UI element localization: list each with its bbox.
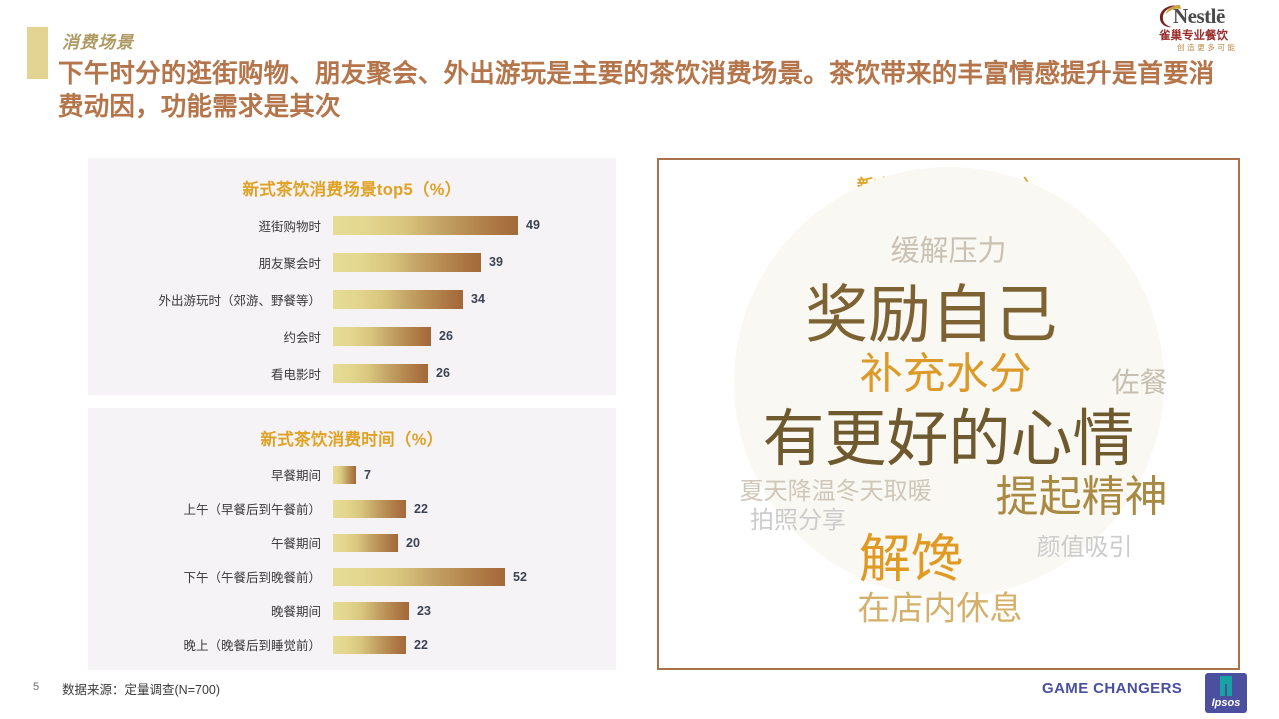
ipsos-mark-icon bbox=[1218, 676, 1234, 696]
bar-category-label: 约会时 bbox=[88, 327, 333, 346]
section-eyebrow-label: 消费场景 bbox=[62, 28, 134, 53]
bar-track: 23 bbox=[333, 602, 616, 620]
bar-fill bbox=[333, 466, 356, 484]
chart-panel-consumption-times: 新式茶饮消费时间（%） 早餐期间7上午（早餐后到午餐前）22午餐期间20下午（午… bbox=[88, 408, 616, 670]
wordcloud-panel-consumption-reasons: 新式茶饮消费原因（%） 缓解压力奖励自己补充水分佐餐有更好的心情夏天降温冬天取暖… bbox=[657, 158, 1240, 670]
bar-value-label: 34 bbox=[471, 292, 485, 306]
bar-row: 晚上（晚餐后到睡觉前）22 bbox=[88, 634, 616, 655]
footer-data-source: 数据来源：定量调查(N=700) bbox=[62, 679, 220, 698]
ipsos-logo: Ipsos bbox=[1205, 673, 1247, 713]
bar-value-label: 26 bbox=[436, 366, 450, 380]
bar-row: 上午（早餐后到午餐前）22 bbox=[88, 498, 616, 519]
nestle-chinese-name: 雀巢专业餐饮 bbox=[1159, 27, 1228, 43]
bar-track: 49 bbox=[333, 216, 616, 235]
nestle-professional-logo: Nestlē 雀巢专业餐饮 创造更多可能 bbox=[1155, 4, 1267, 54]
bar-value-label: 22 bbox=[414, 638, 428, 652]
bar-row: 早餐期间7 bbox=[88, 464, 616, 485]
footer-page-number: 5 bbox=[33, 681, 39, 693]
ipsos-wordmark: Ipsos bbox=[1205, 697, 1247, 709]
bar-value-label: 26 bbox=[439, 329, 453, 343]
chart-title-consumption-times: 新式茶饮消费时间（%） bbox=[88, 408, 616, 450]
bar-fill bbox=[333, 216, 518, 235]
bar-value-label: 7 bbox=[364, 468, 371, 482]
wordcloud-word: 奖励自己 bbox=[805, 285, 1057, 348]
bar-track: 34 bbox=[333, 290, 616, 309]
bar-value-label: 39 bbox=[489, 255, 503, 269]
bar-row: 晚餐期间23 bbox=[88, 600, 616, 621]
bar-category-label: 上午（早餐后到午餐前） bbox=[88, 499, 333, 518]
bar-value-label: 52 bbox=[513, 570, 527, 584]
bar-track: 26 bbox=[333, 327, 616, 346]
wordcloud-word: 佐餐 bbox=[1112, 369, 1168, 397]
bar-track: 52 bbox=[333, 568, 616, 586]
nestle-wordmark: Nestlē bbox=[1173, 4, 1225, 29]
bar-row: 逛街购物时49 bbox=[88, 214, 616, 236]
wordcloud-canvas: 缓解压力奖励自己补充水分佐餐有更好的心情夏天降温冬天取暖提起精神拍照分享解馋颜值… bbox=[659, 160, 1238, 668]
bar-fill bbox=[333, 500, 406, 518]
bar-track: 7 bbox=[333, 466, 616, 484]
bar-row: 下午（午餐后到晚餐前）52 bbox=[88, 566, 616, 587]
bar-fill bbox=[333, 364, 428, 383]
bar-track: 39 bbox=[333, 253, 616, 272]
bar-fill bbox=[333, 636, 406, 654]
wordcloud-word: 颜值吸引 bbox=[1037, 536, 1133, 560]
wordcloud-word: 补充水分 bbox=[860, 354, 1032, 397]
header-accent-bar bbox=[27, 27, 48, 79]
bar-category-label: 逛街购物时 bbox=[88, 216, 333, 235]
bar-fill bbox=[333, 602, 409, 620]
bar-value-label: 22 bbox=[414, 502, 428, 516]
wordcloud-word: 拍照分享 bbox=[750, 509, 846, 533]
bar-rows-consumption-times: 早餐期间7上午（早餐后到午餐前）22午餐期间20下午（午餐后到晚餐前）52晚餐期… bbox=[88, 464, 616, 655]
wordcloud-word: 夏天降温冬天取暖 bbox=[740, 480, 932, 504]
chart-panel-consumption-scenes: 新式茶饮消费场景top5（%） 逛街购物时49朋友聚会时39外出游玩时（郊游、野… bbox=[88, 158, 616, 395]
bar-track: 22 bbox=[333, 636, 616, 654]
bar-fill bbox=[333, 290, 463, 309]
bar-track: 26 bbox=[333, 364, 616, 383]
bar-track: 20 bbox=[333, 534, 616, 552]
bar-row: 看电影时26 bbox=[88, 362, 616, 384]
nestle-tagline: 创造更多可能 bbox=[1177, 42, 1238, 53]
bar-category-label: 晚上（晚餐后到睡觉前） bbox=[88, 635, 333, 654]
page-title: 下午时分的逛街购物、朋友聚会、外出游玩是主要的茶饮消费场景。茶饮带来的丰富情感提… bbox=[58, 58, 1238, 124]
footer-tagline: GAME CHANGERS bbox=[1042, 680, 1182, 697]
bar-value-label: 49 bbox=[526, 218, 540, 232]
bar-value-label: 20 bbox=[406, 536, 420, 550]
wordcloud-word: 在店内休息 bbox=[857, 592, 1022, 625]
wordcloud-word: 提起精神 bbox=[996, 477, 1168, 520]
bar-rows-consumption-scenes: 逛街购物时49朋友聚会时39外出游玩时（郊游、野餐等）34约会时26看电影时26 bbox=[88, 214, 616, 384]
wordcloud-word: 有更好的心情 bbox=[762, 409, 1134, 471]
bar-category-label: 下午（午餐后到晚餐前） bbox=[88, 567, 333, 586]
bar-fill bbox=[333, 253, 481, 272]
wordcloud-word: 缓解压力 bbox=[890, 238, 1006, 267]
wordcloud-word: 解馋 bbox=[859, 534, 963, 586]
chart-title-consumption-scenes: 新式茶饮消费场景top5（%） bbox=[88, 158, 616, 200]
bar-fill bbox=[333, 327, 431, 346]
bar-value-label: 23 bbox=[417, 604, 431, 618]
bar-category-label: 朋友聚会时 bbox=[88, 253, 333, 272]
bar-fill bbox=[333, 534, 398, 552]
bar-fill bbox=[333, 568, 505, 586]
bar-category-label: 午餐期间 bbox=[88, 533, 333, 552]
bar-row: 朋友聚会时39 bbox=[88, 251, 616, 273]
bar-row: 约会时26 bbox=[88, 325, 616, 347]
bar-category-label: 晚餐期间 bbox=[88, 601, 333, 620]
bar-category-label: 看电影时 bbox=[88, 364, 333, 383]
bar-category-label: 早餐期间 bbox=[88, 465, 333, 484]
bar-row: 外出游玩时（郊游、野餐等）34 bbox=[88, 288, 616, 310]
bar-track: 22 bbox=[333, 500, 616, 518]
bar-category-label: 外出游玩时（郊游、野餐等） bbox=[88, 290, 333, 309]
bar-row: 午餐期间20 bbox=[88, 532, 616, 553]
